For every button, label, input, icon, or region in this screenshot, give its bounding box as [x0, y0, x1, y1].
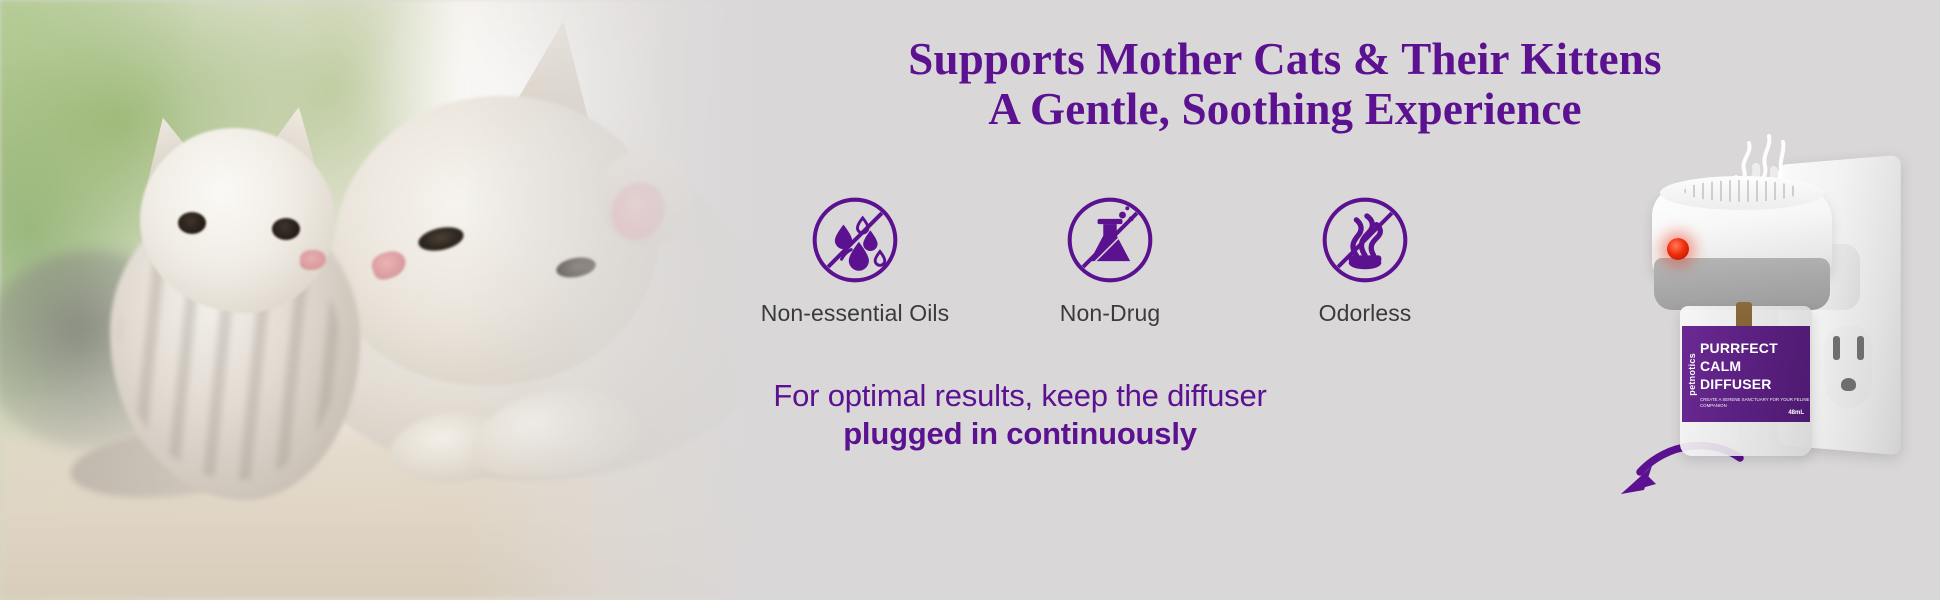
tagline-line-2: plugged in continuously	[700, 415, 1340, 453]
wall-outlet-socket	[1824, 325, 1872, 408]
kitten-eye-left	[178, 212, 206, 234]
kitten-head	[140, 128, 335, 313]
bottle-label: petnotics PURRFECT CALM DIFFUSER CREATE …	[1682, 326, 1810, 422]
product-title-line-2: CALM	[1700, 358, 1741, 374]
kitten-eye-right	[272, 218, 300, 240]
tagline-line-1: For optimal results, keep the diffuser	[700, 378, 1340, 415]
socket-ground-hole	[1841, 378, 1856, 391]
product-title-line-3: DIFFUSER	[1700, 376, 1772, 392]
feature-badges: Non-essential Oils Non-Drug	[760, 192, 1460, 327]
socket-slot-right	[1857, 336, 1864, 360]
diffuser-vents	[1684, 180, 1800, 202]
feature-non-drug: Non-Drug	[1015, 192, 1205, 327]
diffuser-power-led	[1667, 238, 1689, 260]
product-volume: 48mL	[1788, 410, 1804, 416]
headline-line-1: Supports Mother Cats & Their Kittens	[640, 34, 1930, 84]
no-scent-icon	[1317, 192, 1413, 288]
feature-label: Odorless	[1319, 300, 1412, 327]
feature-odorless: Odorless	[1270, 192, 1460, 327]
feature-label: Non-essential Oils	[761, 300, 949, 327]
bottle-label-text: PURRFECT CALM DIFFUSER CREATE A SERENE S…	[1700, 340, 1810, 408]
no-water-droplets-icon	[807, 192, 903, 288]
promotional-banner: Supports Mother Cats & Their Kittens A G…	[0, 0, 1940, 600]
tagline: For optimal results, keep the diffuser p…	[700, 378, 1340, 452]
socket-slot-left	[1833, 336, 1840, 360]
no-flask-icon	[1062, 192, 1158, 288]
product-subtitle: CREATE A SERENE SANCTUARY FOR YOUR FELIN…	[1700, 397, 1810, 408]
feature-label: Non-Drug	[1060, 300, 1161, 327]
brand-name: petnotics	[1687, 353, 1697, 396]
diffuser-product: petnotics PURRFECT CALM DIFFUSER CREATE …	[1630, 120, 1940, 520]
product-title-line-1: PURRFECT	[1700, 340, 1778, 356]
feature-non-essential-oils: Non-essential Oils	[760, 192, 950, 327]
